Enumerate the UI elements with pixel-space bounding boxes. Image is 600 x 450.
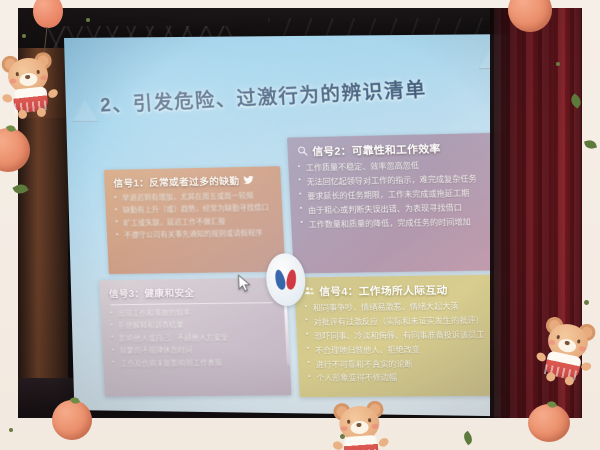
bear-dress <box>343 435 379 450</box>
bear-leg-left <box>545 372 556 383</box>
signal-box-4: 信号4：工作场所人际互动 和同事争吵、情绪易激惹、情绪大起大落 对批评有过激反应… <box>294 274 521 397</box>
signal-3-header-row: 信号3：健康和安全 <box>108 284 278 300</box>
signal-box-1: 信号1：反常或者过多的缺勤 早退迟到有增加，尤其在周五或周一较频 缺勤有上升（或… <box>104 166 286 274</box>
list-item: 个人形象变得不修边幅 <box>308 370 512 386</box>
company-logo-mark <box>274 268 298 291</box>
signal-quadrant-grid: 信号1：反常或者过多的缺勤 早退迟到有增加，尤其在周五或周一较频 缺勤有上升（或… <box>84 118 523 401</box>
signal-3-bullets: 出现工伤和事故的频率 拒绝解释和调查结果 影响他人或自己、不顾他人方安全 频繁的… <box>110 306 282 370</box>
watermark-triangle-left <box>72 100 99 122</box>
signal-3-divider <box>110 302 272 305</box>
slide-title: 2、引发危险、过激行为的辨识清单 <box>99 70 501 117</box>
logo-right-petal <box>286 269 298 290</box>
bird-icon <box>243 174 255 185</box>
signal-1-header-row: 信号1：反常或者过多的缺勤 <box>113 172 273 189</box>
conference-room-photo: 2、引发危险、过激行为的辨识清单 信号1：反常或者过多的缺勤 早退迟到有增加，尤… <box>18 8 582 418</box>
bear-top-left <box>0 49 58 120</box>
signal-box-2: 信号2：可靠性和工作效率 工作质量不稳定、效率忽高忽低 无法回忆起领导对工作的指… <box>287 132 514 273</box>
magnifier-icon <box>297 145 309 156</box>
projection-screen: 2、引发危险、过激行为的辨识清单 信号1：反常或者过多的缺勤 早退迟到有增加，尤… <box>64 34 539 417</box>
signal-4-title: 信号4：工作场所人际互动 <box>319 281 448 298</box>
screenshot-root: 2、引发危险、过激行为的辨识清单 信号1：反常或者过多的缺勤 早退迟到有增加，尤… <box>0 0 600 450</box>
logo-left-petal <box>273 269 287 291</box>
list-item: 不遵守公司有关事先通知的规则或请假程序 <box>116 227 276 242</box>
signal-box-3: 信号3：健康和安全 出现工伤和事故的频率 拒绝解释和调查结果 影响他人或自己、不… <box>99 278 291 397</box>
signal-2-bullets: 工作质量不稳定、效率忽高忽低 无法回忆起领导对工作的指示，难完成复杂任务 要求延… <box>297 157 503 232</box>
signal-1-bullets: 早退迟到有增加，尤其在周五或周一较频 缺勤有上升（或）趋势，经常为缺勤寻找借口 … <box>114 190 276 243</box>
list-item: 工伤及伤病未能影响到工作表现 <box>112 356 282 370</box>
signal-2-title: 信号2：可靠性和工作效率 <box>312 140 441 158</box>
list-item: 工作数量和质量的降低，完成任务的时间增加 <box>300 214 504 232</box>
bear-leg-right <box>564 376 575 387</box>
signal-2-header-row: 信号2：可靠性和工作效率 <box>297 139 500 159</box>
people-icon <box>304 285 316 296</box>
signal-4-header-row: 信号4：工作场所人际互动 <box>303 281 507 299</box>
signal-3-title: 信号3：健康和安全 <box>108 285 194 300</box>
bear-leg-right <box>36 107 46 117</box>
signal-1-title: 信号1：反常或者过多的缺勤 <box>113 173 240 190</box>
bear-leg-left <box>18 109 28 119</box>
signal-4-bullets: 和同事争吵、情绪易激惹、情绪大起大落 对批评有过激反应（实际和未证实发生的批评）… <box>304 299 511 386</box>
bear-bottom-center <box>332 398 388 450</box>
